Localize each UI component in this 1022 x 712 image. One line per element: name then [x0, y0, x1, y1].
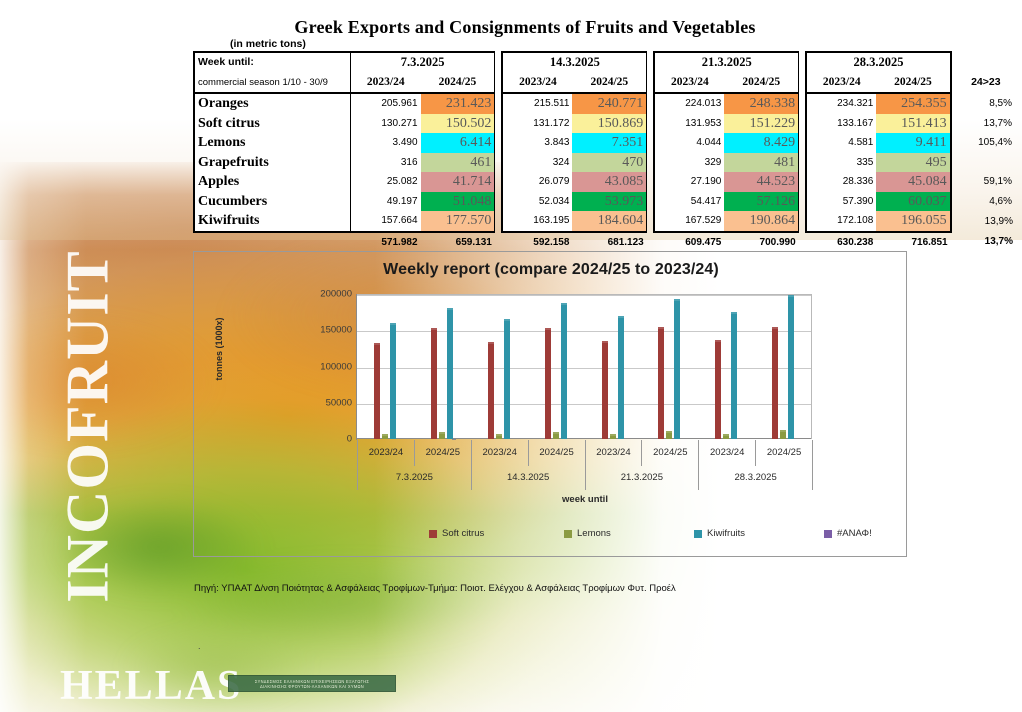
cell-current: 254.355 — [876, 93, 950, 114]
x-group-label: 21.3.2025 — [586, 466, 700, 490]
cell-current: 481 — [724, 153, 798, 173]
gridline — [357, 404, 811, 405]
x-axis-baseline — [357, 438, 811, 439]
legend-label: #ΑΝΑΦ! — [837, 528, 872, 539]
bar-top — [431, 328, 437, 331]
bar-soft-citrus — [602, 343, 608, 439]
cell-current: 44.523 — [724, 172, 798, 192]
column-gap — [647, 211, 655, 232]
bar-top — [561, 303, 567, 306]
column-gap — [495, 133, 503, 153]
cell-prev: 172.108 — [806, 211, 876, 232]
bar-lemons — [382, 436, 388, 439]
cell-prev: 131.172 — [502, 114, 572, 134]
x-group-label: 14.3.2025 — [472, 466, 586, 490]
cell-prev: 28.336 — [806, 172, 876, 192]
total-current: 681.123 — [572, 232, 646, 253]
column-gap — [799, 172, 807, 192]
header-year-prev-2: 2023/24 — [502, 73, 572, 94]
cell-prev: 57.390 — [806, 192, 876, 212]
bar-kiwifruits — [618, 318, 624, 439]
cell-prev: 324 — [502, 153, 572, 173]
legend-swatch-icon — [429, 530, 437, 538]
cell-current: 150.869 — [572, 114, 646, 134]
cell-prev: 167.529 — [654, 211, 724, 232]
bar-lemons — [666, 433, 672, 439]
x-category-label: 2024/25 — [642, 440, 699, 466]
column-gap — [647, 114, 655, 134]
header-week-3: 21.3.2025 — [654, 52, 798, 73]
bar-top — [488, 342, 494, 345]
bar-top — [658, 327, 664, 330]
legend-label: Kiwifruits — [707, 528, 745, 539]
header-year-cur-2: 2024/25 — [572, 73, 646, 94]
table-row: Soft citrus130.271150.502131.172150.8691… — [194, 114, 1021, 134]
table-header-row-years: commercial season 1/10 - 30/92023/242024… — [194, 73, 1021, 94]
row-label-grapefruits: Grapefruits — [194, 153, 351, 173]
source-note: Πηγή: ΥΠΑΑΤ Δ/νση Ποιότητας & Ασφάλειας … — [194, 583, 676, 594]
cell-prev: 316 — [351, 153, 421, 173]
bar-kiwifruits — [561, 305, 567, 439]
cell-growth-pct: 13,9% — [951, 211, 1021, 232]
cell-prev: 27.190 — [654, 172, 724, 192]
column-gap — [799, 114, 807, 134]
cell-current: 470 — [572, 153, 646, 173]
cell-current: 177.570 — [421, 211, 495, 232]
column-gap — [647, 192, 655, 212]
bar-soft-citrus — [545, 330, 551, 439]
cell-current: 57.126 — [724, 192, 798, 212]
bar-kiwifruits — [674, 301, 680, 439]
x-group-label: 28.3.2025 — [699, 466, 813, 490]
legend-label: Soft citrus — [442, 528, 484, 539]
bar-kiwifruits — [731, 314, 737, 439]
legend-label: Lemons — [577, 528, 611, 539]
cell-prev: 224.013 — [654, 93, 724, 114]
column-gap — [495, 73, 503, 94]
cell-prev: 133.167 — [806, 114, 876, 134]
bar-top — [772, 327, 778, 330]
legend-item[interactable]: Soft citrus — [429, 528, 484, 539]
bar-soft-citrus — [488, 344, 494, 439]
bar-lemons — [780, 432, 786, 439]
cell-current: 151.229 — [724, 114, 798, 134]
header-week-2: 14.3.2025 — [502, 52, 646, 73]
bar-top — [447, 308, 453, 311]
brand-incofruit-watermark: INCOFRUIT — [54, 247, 123, 607]
cell-current: 184.604 — [572, 211, 646, 232]
plot-area — [357, 294, 812, 439]
column-gap — [799, 153, 807, 173]
column-gap — [647, 232, 655, 253]
bar-lemons — [553, 434, 559, 439]
bar-top — [602, 341, 608, 344]
cell-current: 53.973 — [572, 192, 646, 212]
chart-legend: Soft citrusLemonsKiwifruits#ΑΝΑΦ! — [254, 528, 854, 542]
column-gap — [799, 73, 807, 94]
x-axis-title: week until — [357, 494, 813, 505]
total-current: 700.990 — [724, 232, 798, 253]
y-tick-label: 100000 — [296, 361, 352, 372]
brand-association-badge: ΣΥΝΔΕΣΜΟΣ ΕΛΛΗΝΙΚΩΝ ΕΠΙΧΕΙΡΗΣΕΩΝ ΕΞΑΓΩΓΗ… — [228, 675, 396, 692]
column-gap — [495, 52, 503, 73]
legend-swatch-icon — [694, 530, 702, 538]
row-label-oranges: Oranges — [194, 93, 351, 114]
y-axis-ticks: 050000100000150000200000 — [294, 294, 352, 440]
cell-current: 461 — [421, 153, 495, 173]
column-gap — [647, 133, 655, 153]
y-axis-label: tonnes (1000x) — [214, 294, 224, 404]
bar-top — [545, 328, 551, 331]
header-pct: 24>23 — [951, 73, 1021, 94]
cell-current: 6.414 — [421, 133, 495, 153]
page-root: INCOFRUIT HELLAS ΣΥΝΔΕΣΜΟΣ ΕΛΛΗΝΙΚΩΝ ΕΠΙ… — [0, 0, 1022, 712]
cell-current: 41.714 — [421, 172, 495, 192]
cell-current: 7.351 — [572, 133, 646, 153]
cell-prev: 215.511 — [502, 93, 572, 114]
cell-growth-pct: 105,4% — [951, 133, 1021, 153]
chart-title: Weekly report (compare 2024/25 to 2023/2… — [194, 261, 908, 279]
cell-prev: 131.953 — [654, 114, 724, 134]
x-category-label: 2023/24 — [586, 440, 643, 466]
cell-current: 150.502 — [421, 114, 495, 134]
bar-top — [723, 434, 729, 437]
cell-prev: 130.271 — [351, 114, 421, 134]
x-category-label: 2024/25 — [756, 440, 813, 466]
row-label-apples: Apples — [194, 172, 351, 192]
bar-soft-citrus — [658, 329, 664, 439]
header-week-until: Week until: — [194, 52, 351, 73]
cell-prev: 234.321 — [806, 93, 876, 114]
x-category-label: 2023/24 — [699, 440, 756, 466]
brand-hellas-watermark: HELLAS — [60, 662, 242, 710]
cell-prev: 205.961 — [351, 93, 421, 114]
cell-prev: 25.082 — [351, 172, 421, 192]
legend-swatch-icon — [824, 530, 832, 538]
column-gap — [799, 52, 807, 73]
cell-growth-pct — [951, 153, 1021, 173]
table-total-row: 571.982659.131592.158681.123609.475700.9… — [194, 232, 1021, 253]
legend-item[interactable]: Kiwifruits — [694, 528, 745, 539]
column-gap — [799, 192, 807, 212]
cell-prev: 4.581 — [806, 133, 876, 153]
total-prev: 609.475 — [654, 232, 724, 253]
bar-top — [618, 316, 624, 319]
cell-current: 240.771 — [572, 93, 646, 114]
bar-kiwifruits — [788, 297, 794, 439]
total-current: 716.851 — [876, 232, 950, 253]
cell-current: 190.864 — [724, 211, 798, 232]
gridline — [357, 368, 811, 369]
row-label-soft-citrus: Soft citrus — [194, 114, 351, 134]
bar-kiwifruits — [447, 310, 453, 439]
column-gap — [647, 52, 655, 73]
cell-growth-pct: 59,1% — [951, 172, 1021, 192]
page-title: Greek Exports and Consignments of Fruits… — [0, 17, 1022, 38]
header-year-cur-3: 2024/25 — [724, 73, 798, 94]
total-prev: 630.238 — [806, 232, 876, 253]
cell-current: 8.429 — [724, 133, 798, 153]
bar-top — [504, 319, 510, 322]
row-label-cucumbers: Cucumbers — [194, 192, 351, 212]
cell-current: 43.085 — [572, 172, 646, 192]
column-gap — [799, 211, 807, 232]
x-category-label: 2023/24 — [357, 440, 415, 466]
cell-prev: 54.417 — [654, 192, 724, 212]
y-tick-label: 0 — [296, 434, 352, 445]
table-header-row-weeks: Week until:7.3.202514.3.202521.3.202528.… — [194, 52, 1021, 73]
x-group-label: 7.3.2025 — [357, 466, 472, 490]
column-gap — [799, 232, 807, 253]
bar-top — [788, 295, 794, 298]
column-gap — [647, 93, 655, 114]
cell-current: 248.338 — [724, 93, 798, 114]
x-category-label: 2023/24 — [472, 440, 529, 466]
column-gap — [495, 232, 503, 253]
x-category-label: 2024/25 — [529, 440, 586, 466]
total-prev: 571.982 — [351, 232, 421, 253]
cell-current: 495 — [876, 153, 950, 173]
column-gap — [647, 172, 655, 192]
bar-soft-citrus — [715, 342, 721, 439]
bar-top — [780, 430, 786, 433]
bar-lemons — [439, 434, 445, 439]
cell-prev: 26.079 — [502, 172, 572, 192]
column-gap — [495, 192, 503, 212]
header-week-4: 28.3.2025 — [806, 52, 950, 73]
cell-growth-pct: 4,6% — [951, 192, 1021, 212]
table-row: Kiwifruits157.664177.570163.195184.60416… — [194, 211, 1021, 232]
total-current: 659.131 — [421, 232, 495, 253]
bar-top — [390, 323, 396, 326]
header-week-1: 7.3.2025 — [351, 52, 495, 73]
header-year-cur-1: 2024/25 — [421, 73, 495, 94]
column-gap — [495, 114, 503, 134]
badge-line-2: ΔΙΑΚΙΝΗΣΗΣ ΦΡΟΥΤΩΝ-ΛΑΧΑΝΙΚΩΝ ΚΑΙ ΧΥΜΩΝ — [260, 683, 364, 689]
bar-top — [553, 432, 559, 435]
units-note: (in metric tons) — [230, 38, 306, 50]
bar-lemons — [723, 436, 729, 439]
cell-current: 51.048 — [421, 192, 495, 212]
cell-prev: 49.197 — [351, 192, 421, 212]
bar-top — [496, 434, 502, 437]
header-year-prev-3: 2023/24 — [654, 73, 724, 94]
row-label-lemons: Lemons — [194, 133, 351, 153]
cell-growth-pct: 8,5% — [951, 93, 1021, 114]
bar-top — [674, 299, 680, 302]
bar-soft-citrus — [431, 330, 437, 439]
bar-soft-citrus — [772, 329, 778, 439]
gridline — [357, 295, 811, 296]
cell-current: 196.055 — [876, 211, 950, 232]
cell-current: 9.411 — [876, 133, 950, 153]
cell-prev: 163.195 — [502, 211, 572, 232]
exports-table: Week until:7.3.202514.3.202521.3.202528.… — [193, 51, 1022, 252]
x-axis-group-labels: 7.3.202514.3.202521.3.202528.3.2025 — [357, 466, 813, 490]
header-season: commercial season 1/10 - 30/9 — [194, 73, 351, 94]
bar-lemons — [496, 436, 502, 439]
column-gap — [495, 153, 503, 173]
cell-prev: 3.843 — [502, 133, 572, 153]
bar-top — [382, 434, 388, 437]
cell-growth-pct: 13,7% — [951, 114, 1021, 134]
column-gap — [799, 133, 807, 153]
chart-panel: Weekly report (compare 2024/25 to 2023/2… — [193, 251, 907, 557]
cell-current: 60.037 — [876, 192, 950, 212]
cell-prev: 335 — [806, 153, 876, 173]
legend-item[interactable]: Lemons — [564, 528, 611, 539]
table-row: Cucumbers49.19751.04852.03453.97354.4175… — [194, 192, 1021, 212]
column-gap — [495, 93, 503, 114]
column-gap — [495, 211, 503, 232]
cell-prev: 3.490 — [351, 133, 421, 153]
bar-top — [731, 312, 737, 315]
cell-current: 45.084 — [876, 172, 950, 192]
bar-kiwifruits — [390, 325, 396, 439]
header-year-prev-1: 2023/24 — [351, 73, 421, 94]
cell-prev: 52.034 — [502, 192, 572, 212]
total-growth-pct: 13,7% — [951, 232, 1021, 253]
header-year-cur-4: 2024/25 — [876, 73, 950, 94]
bar-kiwifruits — [504, 321, 510, 439]
column-gap — [647, 153, 655, 173]
y-tick-label: 200000 — [296, 289, 352, 300]
row-label-kiwifruits: Kiwifruits — [194, 211, 351, 232]
cell-prev: 157.664 — [351, 211, 421, 232]
cell-current: 151.413 — [876, 114, 950, 134]
bar-top — [715, 340, 721, 343]
y-tick-label: 150000 — [296, 325, 352, 336]
bar-lemons — [610, 436, 616, 439]
x-category-label: 2024/25 — [415, 440, 472, 466]
cell-prev: 329 — [654, 153, 724, 173]
legend-item[interactable]: #ΑΝΑΦ! — [824, 528, 872, 539]
total-prev: 592.158 — [502, 232, 572, 253]
header-year-prev-4: 2023/24 — [806, 73, 876, 94]
table-row: Grapefruits316461324470329481335495 — [194, 153, 1021, 173]
table-row: Lemons3.4906.4143.8437.3514.0448.4294.58… — [194, 133, 1021, 153]
legend-swatch-icon — [564, 530, 572, 538]
column-gap — [799, 93, 807, 114]
cell-current: 231.423 — [421, 93, 495, 114]
column-gap — [647, 73, 655, 94]
total-label-blank — [194, 232, 351, 253]
table-row: Oranges205.961231.423215.511240.771224.0… — [194, 93, 1021, 114]
column-gap — [495, 172, 503, 192]
header-pct-spacer — [951, 52, 1021, 73]
y-tick-label: 50000 — [296, 397, 352, 408]
bar-top — [666, 431, 672, 434]
bar-top — [439, 432, 445, 435]
bar-soft-citrus — [374, 345, 380, 439]
bar-top — [374, 343, 380, 346]
tiny-marker: . — [198, 641, 201, 651]
bar-top — [610, 434, 616, 437]
cell-prev: 4.044 — [654, 133, 724, 153]
table-row: Apples25.08241.71426.07943.08527.19044.5… — [194, 172, 1021, 192]
x-axis-category-labels: 2023/242024/252023/242024/252023/242024/… — [357, 440, 813, 466]
gridline — [357, 331, 811, 332]
